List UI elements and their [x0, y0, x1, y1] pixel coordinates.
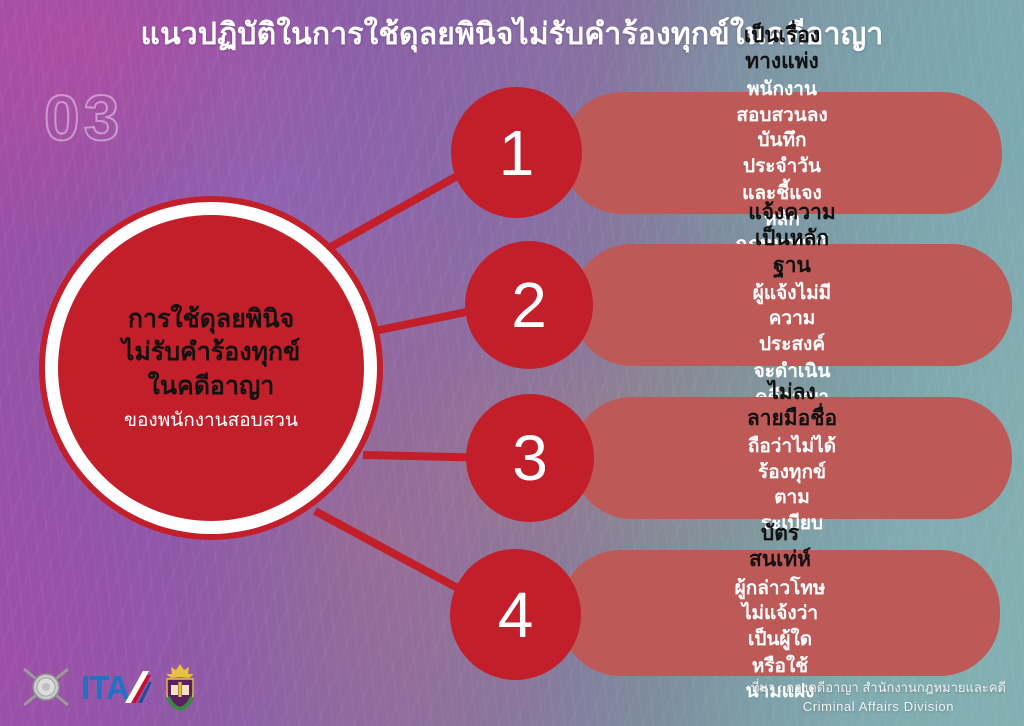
- item-4-heading: บัตรสนเท่ห์: [732, 521, 828, 574]
- item-2-number: 2: [511, 273, 547, 337]
- central-hub-content: การใช้ดุลยพินิจ ไม่รับคำร้องทุกข์ ในคดีอ…: [58, 215, 364, 521]
- source-credit: ที่มา : กองคดีอาญา สำนักงานกฎหมายและคดี …: [751, 679, 1006, 717]
- source-credit-en: Criminal Affairs Division: [751, 698, 1006, 717]
- item-2-line-1: ผู้แจ้งไม่มีความประสงค์: [744, 281, 840, 357]
- item-2-pill[interactable]: แจ้งความเป็นหลักฐาน ผู้แจ้งไม่มีความประส…: [572, 244, 1012, 366]
- item-4-number: 4: [498, 583, 534, 647]
- item-1-line-1: พนักงานสอบสวนลงบันทึกประจำวัน: [734, 77, 830, 179]
- source-credit-th: ที่มา : กองคดีอาญา สำนักงานกฎหมายและคดี: [751, 679, 1006, 698]
- item-1-heading: เป็นเรื่องทางแพ่ง: [734, 23, 830, 76]
- royal-thai-police-crest-icon: [162, 663, 198, 711]
- item-2-number-badge[interactable]: 2: [465, 241, 593, 369]
- item-1-number-badge[interactable]: 1: [451, 87, 582, 218]
- item-3-heading: ไม่ลงลายมือชื่อ: [744, 380, 840, 433]
- item-3-text: ไม่ลงลายมือชื่อ ถือว่าไม่ได้ร้องทุกข์ตาม…: [744, 380, 998, 536]
- item-4-number-badge[interactable]: 4: [450, 549, 581, 680]
- police-chakra-emblem-icon: [20, 663, 72, 711]
- item-4-line-1: ผู้กล่าวโทษไม่แจ้งว่าเป็นผู้ใด: [732, 576, 828, 652]
- item-1-pill[interactable]: เป็นเรื่องทางแพ่ง พนักงานสอบสวนลงบันทึกป…: [562, 92, 1002, 214]
- item-2-text: แจ้งความเป็นหลักฐาน ผู้แจ้งไม่มีความประส…: [744, 200, 998, 410]
- item-4-pill[interactable]: บัตรสนเท่ห์ ผู้กล่าวโทษไม่แจ้งว่าเป็นผู้…: [560, 550, 1000, 676]
- item-4-text: บัตรสนเท่ห์ ผู้กล่าวโทษไม่แจ้งว่าเป็นผู้…: [732, 521, 986, 705]
- ita-logo: ITA: [81, 669, 153, 705]
- item-3-pill[interactable]: ไม่ลงลายมือชื่อ ถือว่าไม่ได้ร้องทุกข์ตาม…: [572, 397, 1012, 519]
- hub-title-line-1: การใช้ดุลยพินิจ: [128, 303, 294, 337]
- ita-logo-text: ITA: [81, 671, 129, 704]
- hub-title-line-3: ในคดีอาญา: [148, 370, 275, 404]
- item-1-number: 1: [499, 121, 535, 185]
- footer-logos: ITA: [20, 660, 198, 714]
- item-3-number: 3: [512, 426, 548, 490]
- central-hub: การใช้ดุลยพินิจ ไม่รับคำร้องทุกข์ ในคดีอ…: [58, 215, 364, 521]
- thai-flag-swoosh-icon: [123, 669, 153, 705]
- hub-title-line-2: ไม่รับคำร้องทุกข์: [122, 336, 300, 370]
- infographic-canvas: 03 แนวปฏิบัติในการใช้ดุลยพินิจไม่รับคำร้…: [0, 0, 1024, 726]
- hub-subtitle: ของพนักงานสอบสวน: [124, 410, 298, 433]
- item-3-number-badge[interactable]: 3: [466, 394, 594, 522]
- item-2-heading: แจ้งความเป็นหลักฐาน: [744, 200, 840, 279]
